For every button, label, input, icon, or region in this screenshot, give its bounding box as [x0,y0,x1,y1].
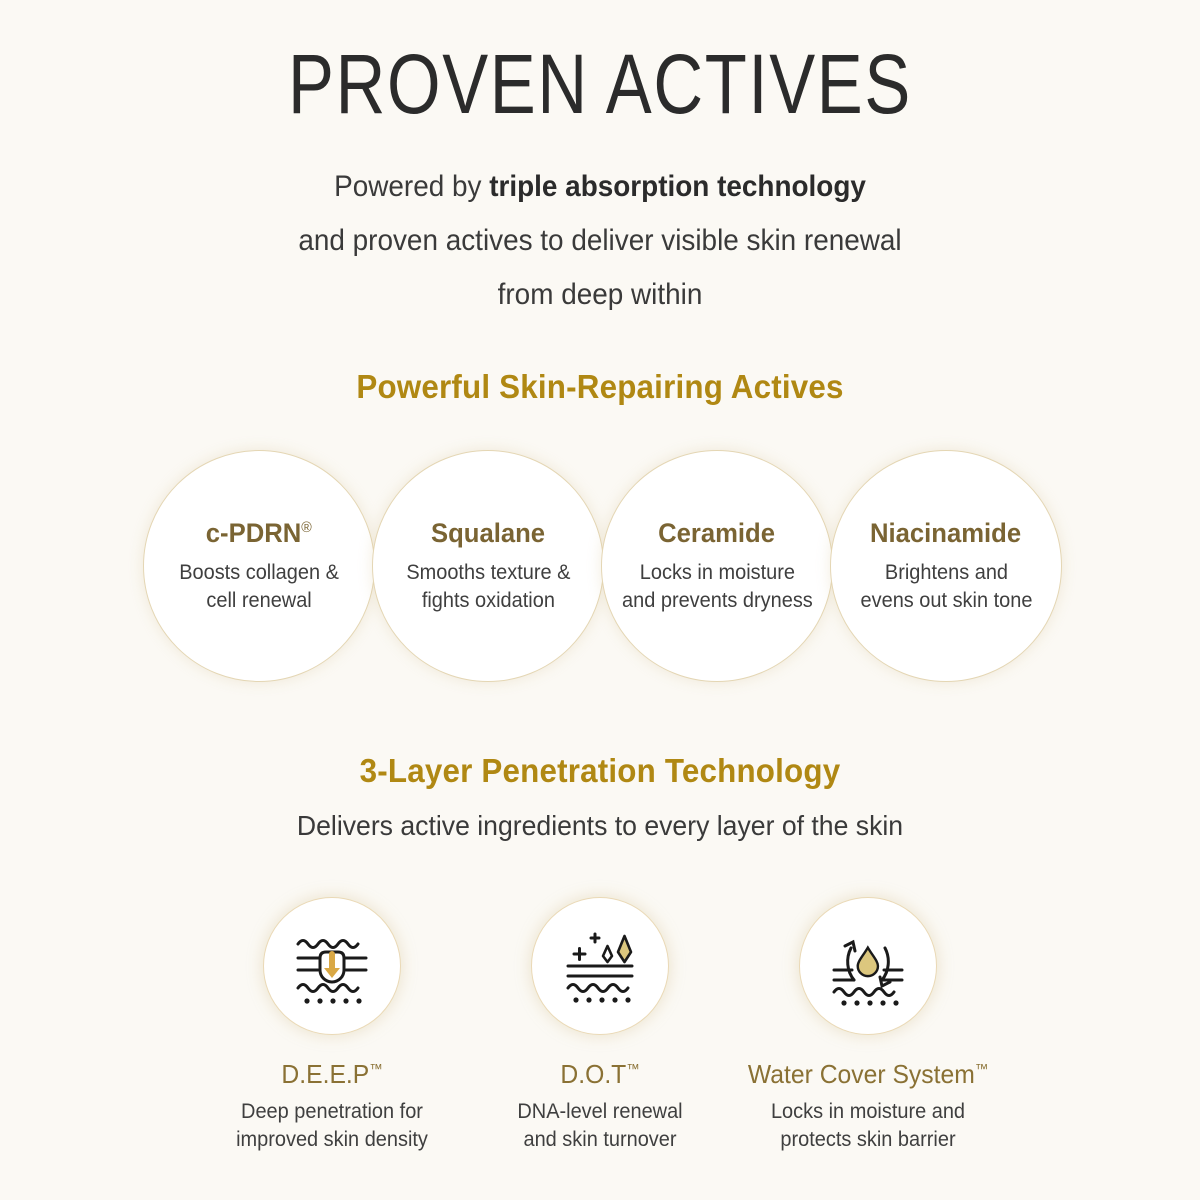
active-title: c-PDRN® [206,518,312,549]
tech-icon-circle [263,897,401,1035]
active-description: Locks in moisture and prevents dryness [622,559,813,615]
tech-item-deep: D.E.E.P™ Deep penetration for improved s… [182,897,482,1154]
tech-description: Locks in moisture and protects skin barr… [726,1098,1011,1154]
page-title: PROVEN ACTIVES [108,36,1092,132]
technology-icon-row: D.E.E.P™ Deep penetration for improved s… [0,897,1200,1197]
skin-dots [304,998,361,1003]
down-arrow-gold [324,954,340,978]
subtitle-prefix: Powered by [334,170,489,203]
subtitle-line-2: and proven actives to deliver visible sk… [42,214,1158,268]
tech-item-dot: D.O.T™ DNA-level renewal and skin turnov… [450,897,750,1154]
subtitle-line-1: Powered by triple absorption technology [42,160,1158,214]
trademark-mark: ™ [369,1060,382,1076]
registered-mark: ® [301,519,312,536]
subtitle-line-3: from deep within [42,268,1158,322]
active-description: Smooths texture & fights oxidation [406,559,570,615]
tech-title: D.O.T™ [458,1059,743,1090]
active-circle-c-pdrn: c-PDRN® Boosts collagen & cell renewal [143,450,375,682]
trademark-mark: ™ [626,1060,639,1076]
active-circle-ceramide: Ceramide Locks in moisture and prevents … [601,450,833,682]
tech-icon-circle [531,897,669,1035]
tech-title: Water Cover System™ [726,1059,1011,1090]
skin-dots [841,1000,898,1005]
active-description: Brightens and evens out skin tone [860,559,1032,615]
tech-description: Deep penetration for improved skin densi… [190,1098,475,1154]
active-title: Niacinamide [870,518,1021,549]
tech-item-water-cover-system: Water Cover System™ Locks in moisture an… [718,897,1018,1154]
subtitle-block: Powered by triple absorption technology … [42,160,1158,322]
tech-description: DNA-level renewal and skin turnover [458,1098,743,1154]
sparkle-diamond-gold [618,936,631,962]
technology-section-subheading: Delivers active ingredients to every lay… [30,810,1170,842]
active-title: Squalane [431,518,545,549]
technology-section-heading: 3-Layer Penetration Technology [30,752,1170,790]
active-circle-squalane: Squalane Smooths texture & fights oxidat… [372,450,604,682]
active-circle-niacinamide: Niacinamide Brightens and evens out skin… [830,450,1062,682]
tech-icon-circle [799,897,937,1035]
active-title: Ceramide [659,518,776,549]
sparkle-diamond-small [603,946,612,962]
sparkle-plus-icons [574,934,599,960]
tech-title: D.E.E.P™ [190,1059,475,1090]
skin-dots [573,997,630,1002]
actives-circle-row: c-PDRN® Boosts collagen & cell renewal S… [0,450,1200,690]
subtitle-strong: triple absorption technology [489,170,866,203]
actives-section-heading: Powerful Skin-Repairing Actives [30,368,1170,406]
trademark-mark: ™ [975,1060,988,1076]
water-droplet [858,948,878,977]
skin-pore-penetration-icon [284,918,380,1014]
infographic-page: PROVEN ACTIVES Powered by triple absorpt… [0,0,1200,1200]
water-droplet-cycle-icon [820,918,916,1014]
skin-sparkle-renewal-icon [552,918,648,1014]
active-description: Boosts collagen & cell renewal [179,559,339,615]
